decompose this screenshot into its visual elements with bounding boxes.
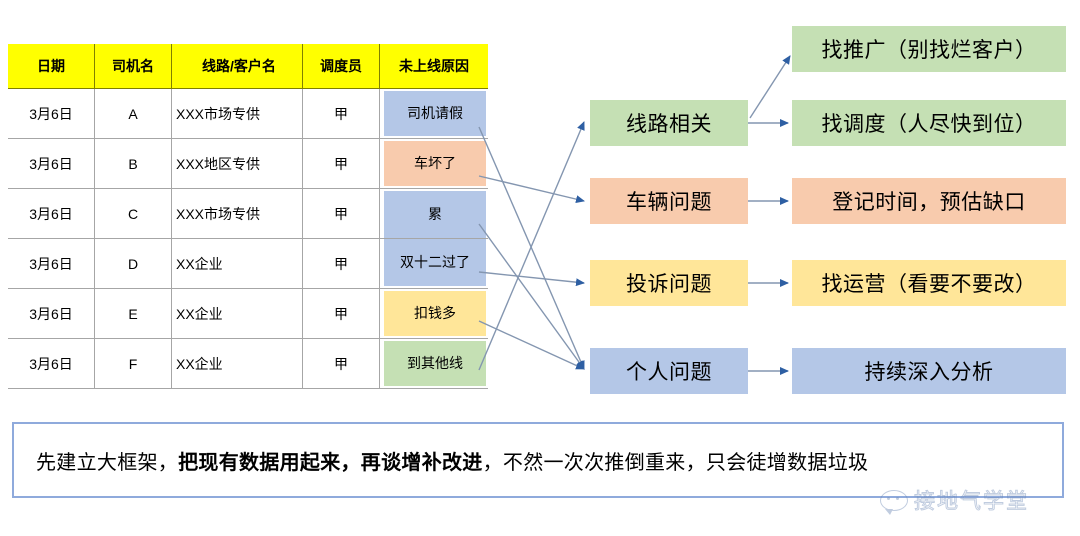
action-label: 持续深入分析 <box>865 356 994 386</box>
action-label: 找运营（看要不要改） <box>822 268 1037 298</box>
action-box-register[interactable]: 登记时间，预估缺口 <box>792 178 1066 224</box>
action-label: 找推广（别找烂客户） <box>822 34 1037 64</box>
category-label: 车辆问题 <box>626 186 712 216</box>
table-row: 3月6日 A XXX市场专供 甲 司机请假 <box>8 89 488 139</box>
table-row: 3月6日 B XXX地区专供 甲 车坏了 <box>8 139 488 189</box>
table-row: 3月6日 C XXX市场专供 甲 累 <box>8 189 488 239</box>
cell-reason: 扣钱多 <box>380 289 489 339</box>
reason-chip: 车坏了 <box>384 141 486 186</box>
table-row: 3月6日 D XX企业 甲 双十二过了 <box>8 239 488 289</box>
cell-route: XX企业 <box>172 289 303 339</box>
header-cell-route: 线路/客户名 <box>172 44 303 89</box>
cell-date: 3月6日 <box>8 339 95 389</box>
summary-emphasis: 把现有数据用起来，再谈增补改进 <box>178 452 483 474</box>
summary-tail: ，不然一次次推倒重来，只会徒增数据垃圾 <box>483 452 869 474</box>
cell-route: XX企业 <box>172 339 303 389</box>
cell-driver: C <box>95 189 172 239</box>
cell-route: XXX市场专供 <box>172 89 303 139</box>
cell-driver: A <box>95 89 172 139</box>
cell-date: 3月6日 <box>8 289 95 339</box>
cell-date: 3月6日 <box>8 189 95 239</box>
cell-reason: 车坏了 <box>380 139 489 189</box>
driver-offline-table: 日期 司机名 线路/客户名 调度员 未上线原因 3月6日 A XXX市场专供 甲… <box>8 44 488 389</box>
cell-dispatcher: 甲 <box>303 339 380 389</box>
link-pay-deduction-to-personal <box>479 321 584 369</box>
table-row: 3月6日 F XX企业 甲 到其他线 <box>8 339 488 389</box>
cell-dispatcher: 甲 <box>303 239 380 289</box>
cell-reason: 司机请假 <box>380 89 489 139</box>
reason-chip: 到其他线 <box>384 341 486 386</box>
category-box-complaint[interactable]: 投诉问题 <box>590 260 748 306</box>
cell-driver: F <box>95 339 172 389</box>
action-box-promotion[interactable]: 找推广（别找烂客户） <box>792 26 1066 72</box>
link-driver-leave-to-personal <box>479 127 584 369</box>
cell-dispatcher: 甲 <box>303 189 380 239</box>
header-cell-dispatcher: 调度员 <box>303 44 380 89</box>
reason-chip: 累 <box>384 191 486 238</box>
cell-dispatcher: 甲 <box>303 139 380 189</box>
cell-route: XXX市场专供 <box>172 189 303 239</box>
cell-route: XXX地区专供 <box>172 139 303 189</box>
table-row: 3月6日 E XX企业 甲 扣钱多 <box>8 289 488 339</box>
category-box-route[interactable]: 线路相关 <box>590 100 748 146</box>
header-cell-driver: 司机名 <box>95 44 172 89</box>
category-box-personal[interactable]: 个人问题 <box>590 348 748 394</box>
action-label: 找调度（人尽快到位） <box>822 108 1037 138</box>
category-label: 线路相关 <box>626 108 712 138</box>
table-body: 3月6日 A XXX市场专供 甲 司机请假 3月6日 B XXX地区专供 甲 车… <box>8 89 488 389</box>
cell-reason: 双十二过了 <box>380 239 489 289</box>
cell-dispatcher: 甲 <box>303 89 380 139</box>
link-route-to-promotion-action <box>750 56 790 118</box>
watermark-text: 接地气学堂 <box>914 485 1029 515</box>
reason-chip: 司机请假 <box>384 91 486 136</box>
table-header: 日期 司机名 线路/客户名 调度员 未上线原因 <box>8 44 488 89</box>
cell-dispatcher: 甲 <box>303 289 380 339</box>
header-cell-reason: 未上线原因 <box>380 44 489 89</box>
reason-chip: 双十二过了 <box>384 239 486 286</box>
cell-date: 3月6日 <box>8 89 95 139</box>
category-label: 投诉问题 <box>626 268 712 298</box>
action-box-dispatch[interactable]: 找调度（人尽快到位） <box>792 100 1066 146</box>
header-cell-date: 日期 <box>8 44 95 89</box>
cell-driver: B <box>95 139 172 189</box>
category-label: 个人问题 <box>626 356 712 386</box>
watermark: 接地气学堂 <box>880 485 1029 515</box>
link-vehicle-broken-to-vehicle <box>479 176 584 201</box>
wechat-bubble-icon <box>880 490 908 511</box>
reason-chip: 扣钱多 <box>384 291 486 336</box>
action-box-operations[interactable]: 找运营（看要不要改） <box>792 260 1066 306</box>
summary-lead: 先建立大框架， <box>36 452 178 474</box>
cell-reason: 到其他线 <box>380 339 489 389</box>
action-box-analysis[interactable]: 持续深入分析 <box>792 348 1066 394</box>
cell-route: XX企业 <box>172 239 303 289</box>
cell-driver: E <box>95 289 172 339</box>
cell-driver: D <box>95 239 172 289</box>
cell-date: 3月6日 <box>8 139 95 189</box>
table-header-row: 日期 司机名 线路/客户名 调度员 未上线原因 <box>8 44 488 89</box>
cell-reason: 累 <box>380 189 489 239</box>
link-double12-to-complaint <box>479 272 584 283</box>
cell-date: 3月6日 <box>8 239 95 289</box>
category-box-vehicle[interactable]: 车辆问题 <box>590 178 748 224</box>
summary-text: 先建立大框架，把现有数据用起来，再谈增补改进，不然一次次推倒重来，只会徒增数据垃… <box>14 446 868 475</box>
link-tired-to-personal <box>479 224 584 369</box>
action-label: 登记时间，预估缺口 <box>832 186 1026 216</box>
link-other-route-to-route <box>479 122 584 370</box>
